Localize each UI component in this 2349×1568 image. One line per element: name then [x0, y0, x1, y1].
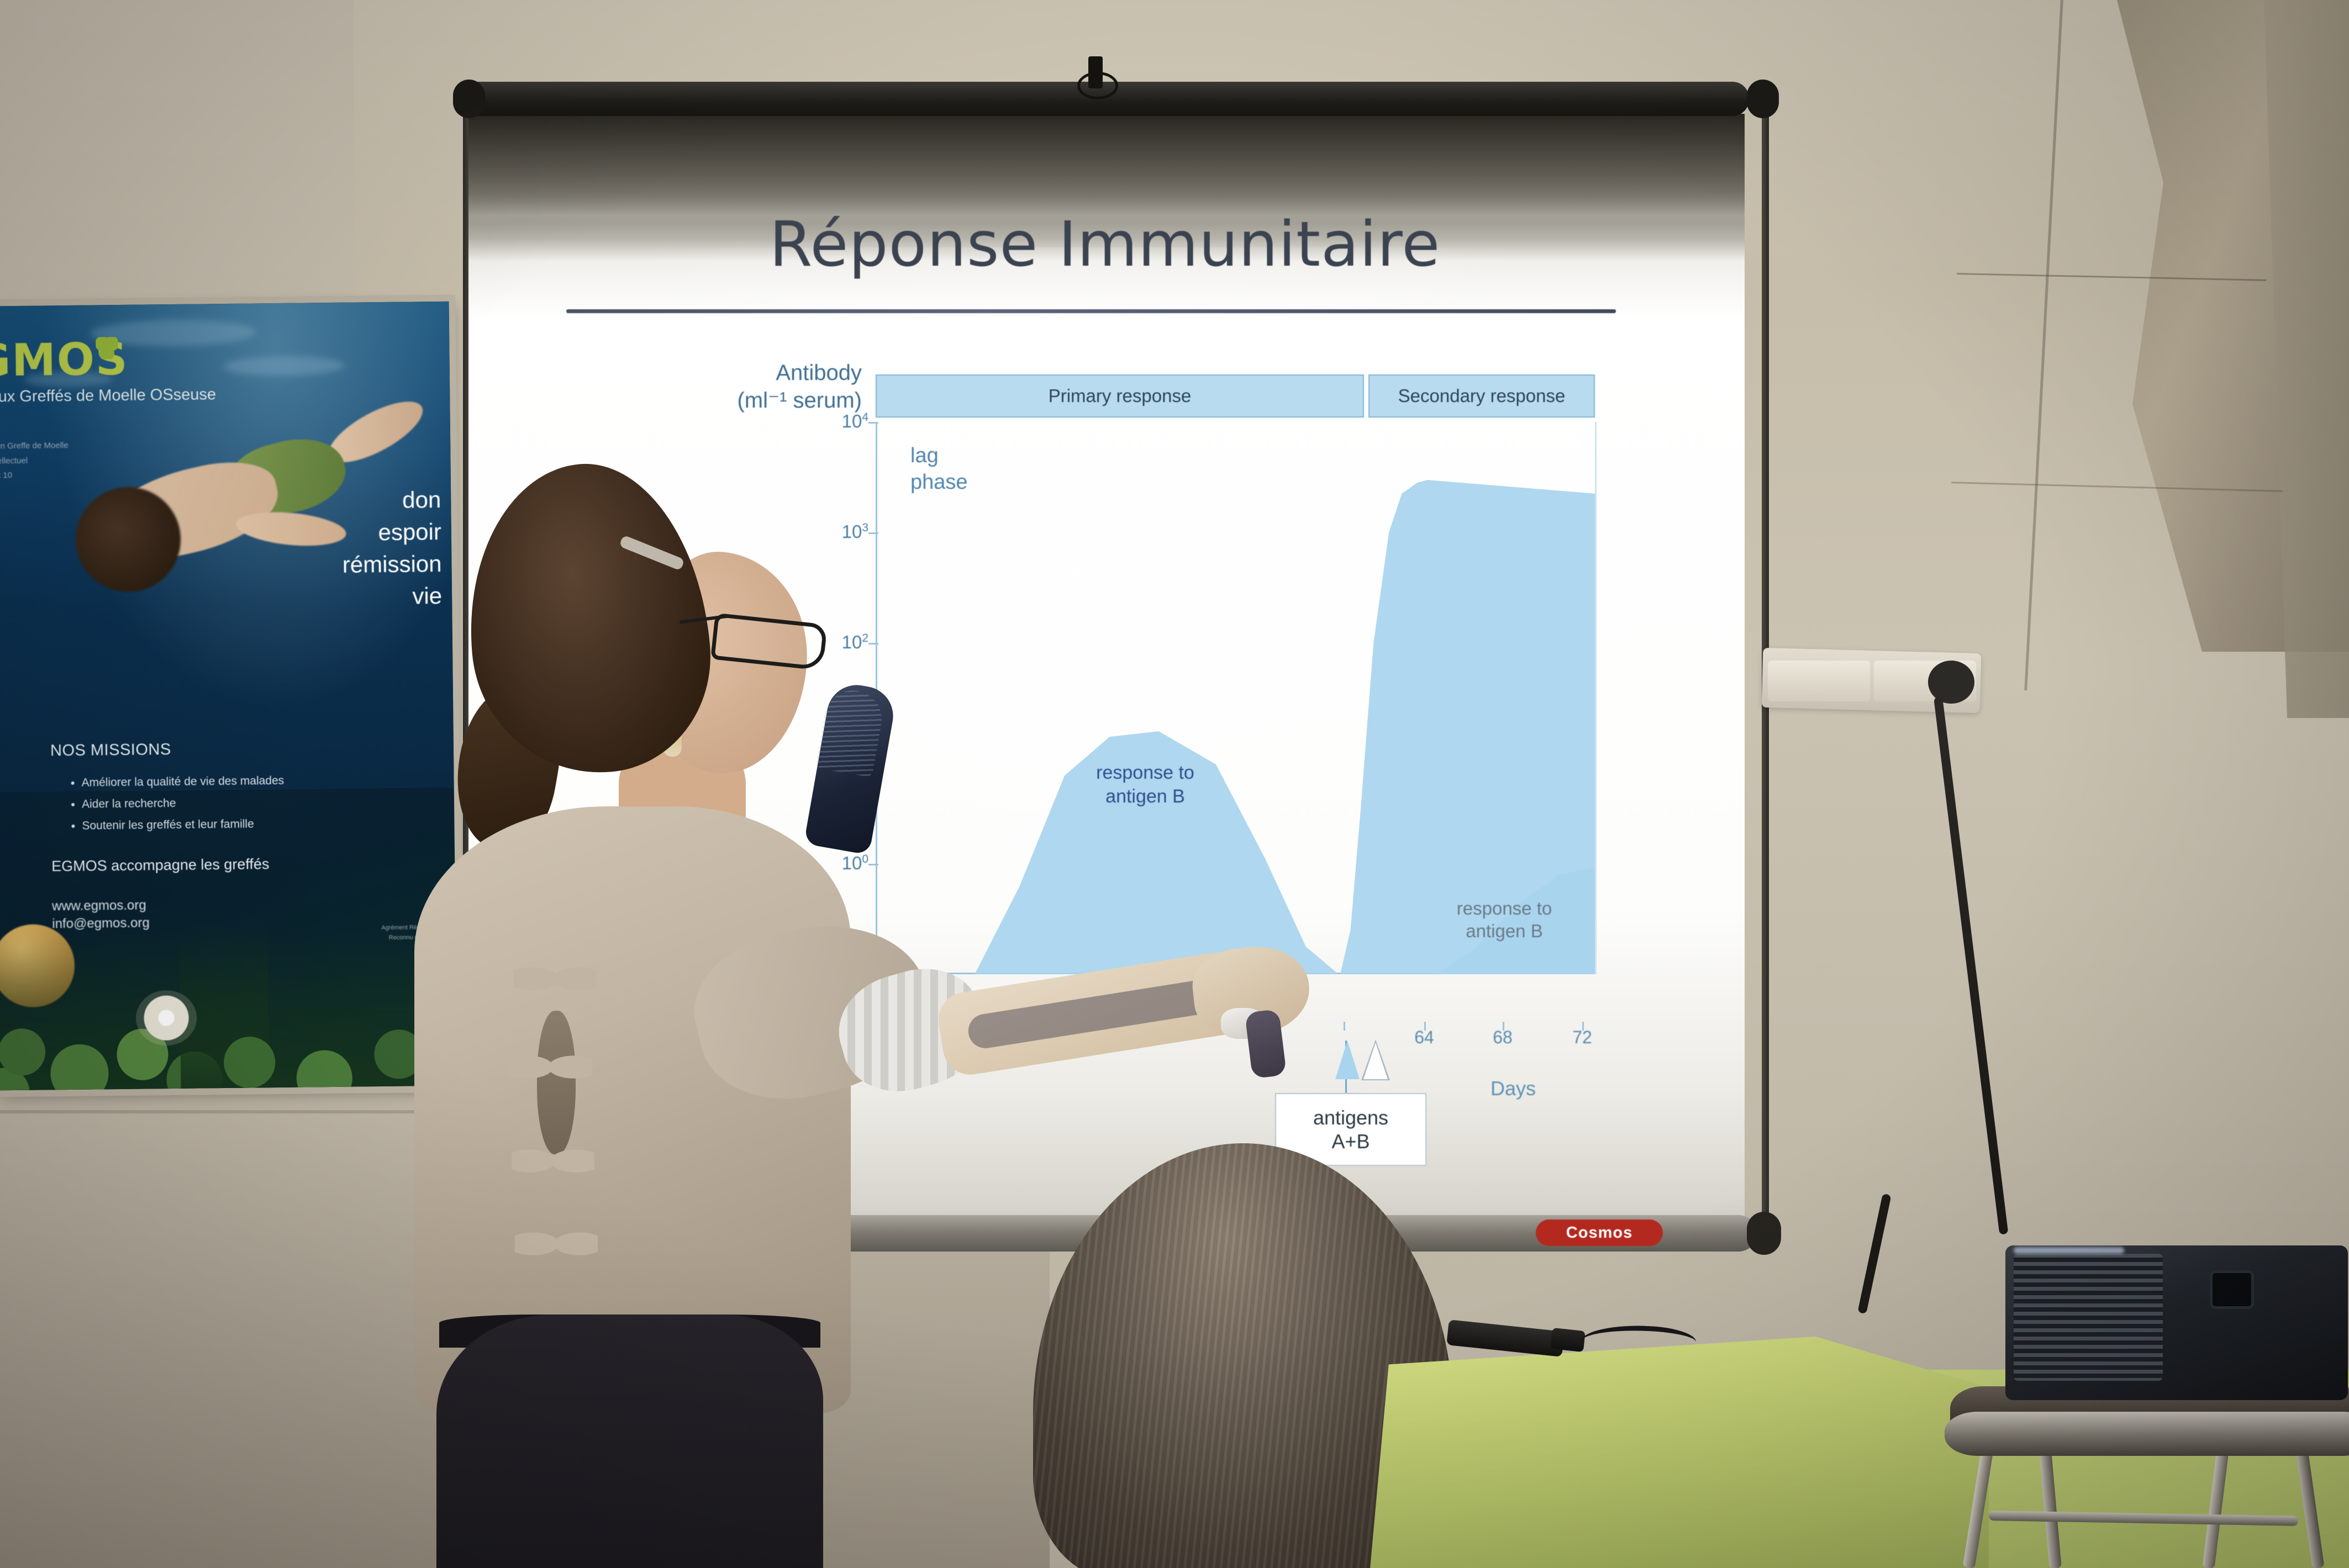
list-item: Soutenir les greffés et leur famille: [82, 814, 285, 837]
chart-plot-right-edge: [1595, 422, 1597, 974]
x-tick-label: 72: [1572, 1027, 1592, 1048]
screenshot-root: GMOS e aux Greffés de Moelle OSseuse Sal…: [0, 0, 2349, 1568]
list-item: Aider la recherche: [82, 792, 285, 816]
projector-lens: [2210, 1270, 2254, 1309]
x-tick-label: 64: [1414, 1027, 1434, 1048]
poster-missions-list: Améliorer la qualité de vie des malades …: [61, 770, 285, 837]
x-tick-mark: [1344, 1022, 1345, 1031]
bow-detail: [514, 950, 597, 1007]
poster-email: info@egmos.org: [52, 915, 150, 933]
screen-end-cap-right: [1747, 80, 1779, 118]
slide-title: Réponse Immunitaire: [500, 209, 1710, 281]
socket-hole: [1825, 669, 1850, 694]
x-tick-label: 68: [1493, 1027, 1513, 1048]
poster-address-line: ier Intellectuel: [0, 453, 69, 468]
poster-website: www.egmos.org: [52, 896, 150, 915]
sweater-bow-details: [514, 950, 608, 1259]
antigens-ab-line: antigens: [1313, 1106, 1388, 1129]
poster-contact: www.egmos.org info@egmos.org: [52, 896, 150, 933]
poster-address-line: Salut: [0, 424, 69, 440]
power-plug[interactable]: [1928, 661, 1974, 704]
projector-vent-grille: [2014, 1254, 2163, 1381]
antigen-b-arrow-fill: [1363, 1043, 1388, 1079]
annotation-line: response to: [1054, 761, 1236, 785]
socket-hole: [1889, 669, 1914, 694]
poster-tagline: EGMOS accompagne les greffés: [51, 856, 270, 875]
projector-highlight: [2014, 1247, 2124, 1254]
y-axis-label: Antibody (ml⁻¹ serum): [663, 359, 862, 414]
presenter-trousers: [436, 1314, 823, 1568]
swimmer-hair: [75, 487, 181, 593]
poster-missions-heading: NOS MISSIONS: [50, 741, 171, 760]
y-tick-mark: [868, 422, 878, 424]
poster-subtitle: e aux Greffés de Moelle OSseuse: [0, 386, 216, 406]
annotation-line: response to: [1419, 897, 1590, 920]
y-tick-label: 104: [842, 411, 868, 432]
screen-bottom-cap-right: [1747, 1212, 1781, 1255]
bow-detail: [512, 1132, 594, 1190]
power-socket-left[interactable]: [1768, 661, 1870, 701]
table-cloth: [1370, 1337, 1989, 1568]
annotation-response-antigen-b: response to antigen B: [1419, 897, 1590, 943]
antigens-ab-line: A+B: [1313, 1129, 1388, 1153]
poster-address: Salut Horizon Greffe de Moelle ier Intel…: [0, 424, 69, 483]
phase-header-secondary: Secondary response: [1368, 374, 1595, 418]
annotation-line: antigen B: [1419, 920, 1590, 942]
screen-hook-ring: [1077, 72, 1118, 99]
annotation-line: antigen B: [1054, 785, 1236, 809]
socket-hole: [1787, 669, 1811, 694]
x-axis-label: Days: [1490, 1077, 1536, 1100]
antigen-a-arrow: [1335, 1041, 1360, 1079]
clover-icon: [96, 337, 118, 359]
bow-detail: [509, 1038, 592, 1096]
annotation-response-antigen-a: response to antigen B: [1054, 761, 1236, 808]
slide-title-rule: [566, 309, 1616, 313]
presenter: [331, 453, 1022, 1568]
stool-seat-rim: [1945, 1412, 2349, 1456]
y-axis-label-line2: (ml⁻¹ serum): [663, 387, 862, 414]
screen-end-cap-left: [453, 80, 485, 118]
poster-address-line: Horizon Greffe de Moelle: [0, 439, 69, 454]
poster-address-line: Cedex 10: [0, 468, 69, 483]
y-axis-label-line1: Antibody: [663, 359, 862, 387]
list-item: Améliorer la qualité de vie des malades: [81, 770, 284, 794]
screen-brand-badge: Cosmos: [1536, 1219, 1663, 1246]
phase-header-primary: Primary response: [876, 374, 1364, 418]
bow-detail: [515, 1215, 598, 1273]
